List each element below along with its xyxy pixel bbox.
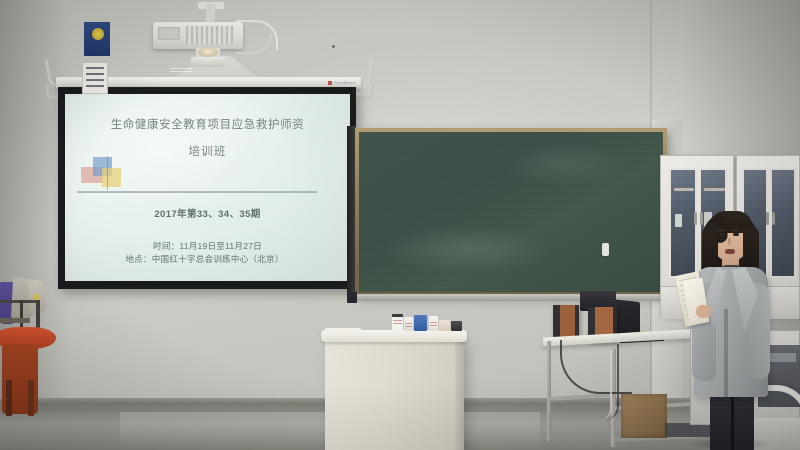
cabinet-poster-white xyxy=(82,62,108,94)
wall-light-switch[interactable] xyxy=(602,243,609,256)
box-label-stripes xyxy=(393,320,402,326)
orange-chair-leg-back xyxy=(28,380,34,416)
eyebrow-right xyxy=(732,229,739,231)
eye-left xyxy=(719,233,725,236)
supply-box-white-2 xyxy=(429,316,438,331)
projector-lens xyxy=(198,48,218,57)
box-label-stripes xyxy=(405,323,412,329)
speaker-left xyxy=(553,305,579,337)
poster-text-lines xyxy=(86,67,104,89)
screen-vignette xyxy=(65,94,350,281)
poster-emblem-icon xyxy=(92,28,104,40)
table-leg-left xyxy=(547,341,551,441)
chalkboard xyxy=(355,128,667,296)
shelf-item xyxy=(674,188,694,191)
box-label-stripes xyxy=(430,322,437,328)
projector-side-panel xyxy=(158,27,180,40)
hand-holding-papers xyxy=(696,305,711,318)
coat-opening xyxy=(724,309,728,397)
chalk-smudge-upper xyxy=(499,142,627,187)
wall-fixture-dot xyxy=(332,45,335,48)
supply-box-white xyxy=(404,317,413,331)
shelf-item xyxy=(704,188,725,191)
screen-brand-label: Rendimed xyxy=(328,80,355,85)
shelf-bottle xyxy=(675,214,682,227)
poster-text-lines xyxy=(170,68,192,74)
podium xyxy=(325,337,462,450)
supply-box-dark-top xyxy=(392,314,403,331)
leg-separation xyxy=(731,397,734,450)
chalkboard-surface xyxy=(359,132,663,292)
nose xyxy=(728,238,731,245)
supply-boxes-group xyxy=(392,313,464,331)
podium-front-lip xyxy=(324,328,362,334)
projector-foot xyxy=(191,57,225,67)
podium-side-panel xyxy=(455,337,464,450)
chalk-smudge-lower xyxy=(383,225,550,273)
projector-vent-grille xyxy=(186,26,234,44)
orange-chair-leg-front xyxy=(6,380,12,416)
coat-rack-shelf xyxy=(0,318,30,323)
supply-box-blue xyxy=(414,315,427,331)
eyebrow-left xyxy=(718,229,725,231)
chalk-tray-end-cap xyxy=(347,292,357,303)
cardboard-box xyxy=(621,394,667,438)
eye-right xyxy=(733,233,739,236)
screen-surface: 生命健康安全教育项目应急救护师资 培训班 2017年第33、34、35期 时间：… xyxy=(65,94,350,281)
supply-box-black xyxy=(451,321,462,331)
supply-box-tan xyxy=(439,320,450,331)
mouth xyxy=(725,249,735,254)
classroom-photo: Rendimed 生命健康安全教育项目应急救护师资 培训班 2017年第33、3… xyxy=(0,0,800,450)
projection-screen: 生命健康安全教育项目应急救护师资 培训班 2017年第33、34、35期 时间：… xyxy=(58,87,356,289)
presenter xyxy=(688,205,774,450)
floor-cable-c xyxy=(598,350,612,420)
coat-rack-arm xyxy=(0,300,36,303)
